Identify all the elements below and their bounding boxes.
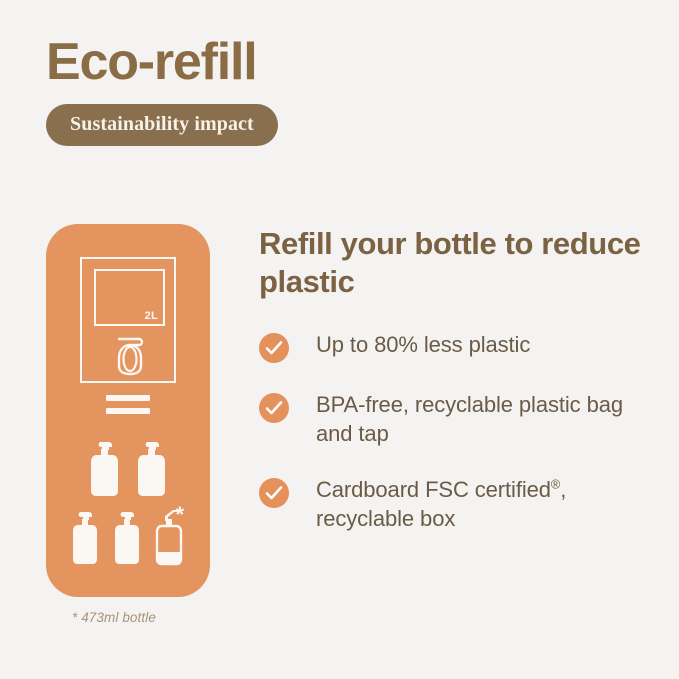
equals-bar-bottom [106,408,150,414]
feature-label: Cardboard FSC certified [316,477,551,502]
page-header: Eco-refill Sustainability impact [46,36,646,146]
page-title: Eco-refill [46,36,646,88]
equals-bar-top [106,395,150,401]
tap-spigot-icon [110,335,150,377]
check-circle-icon [259,393,289,423]
pump-bottle-icon [69,507,103,567]
box-window-icon: 2L [94,269,165,326]
status-badge: Sustainability impact [46,104,278,146]
list-item: Up to 80% less plastic [259,330,659,363]
registered-mark: ® [551,477,560,492]
pump-bottle-icon [111,507,145,567]
check-circle-icon [259,333,289,363]
feature-text: Up to 80% less plastic [316,330,530,359]
footnote-text: * 473ml bottle [72,610,156,625]
asterisk-marker: * [175,504,184,526]
equals-sign-icon [106,395,150,417]
list-item: Cardboard FSC certified®, recyclable box [259,475,659,534]
pump-bottle-icon [86,436,124,498]
illustration-panel: 2L [46,224,210,597]
list-item: BPA-free, recyclable plastic bag and tap [259,390,659,449]
pump-bottle-icon [133,436,171,498]
feature-list: Up to 80% less plastic BPA-free, recycla… [259,330,659,534]
content-section: Refill your bottle to reduce plastic Up … [259,225,659,561]
check-circle-icon [259,478,289,508]
feature-text: BPA-free, recyclable plastic bag and tap [316,390,659,449]
refill-box-icon: 2L [80,257,176,383]
bottle-row-bottom [46,507,210,567]
feature-label: BPA-free, recyclable plastic bag and tap [316,392,623,446]
content-heading: Refill your bottle to reduce plastic [259,225,659,301]
illustration-graphic: 2L [46,224,210,597]
box-volume-label: 2L [145,311,158,322]
feature-label: Up to 80% less plastic [316,332,530,357]
feature-text: Cardboard FSC certified®, recyclable box [316,475,659,534]
bottle-row-top [46,436,210,498]
